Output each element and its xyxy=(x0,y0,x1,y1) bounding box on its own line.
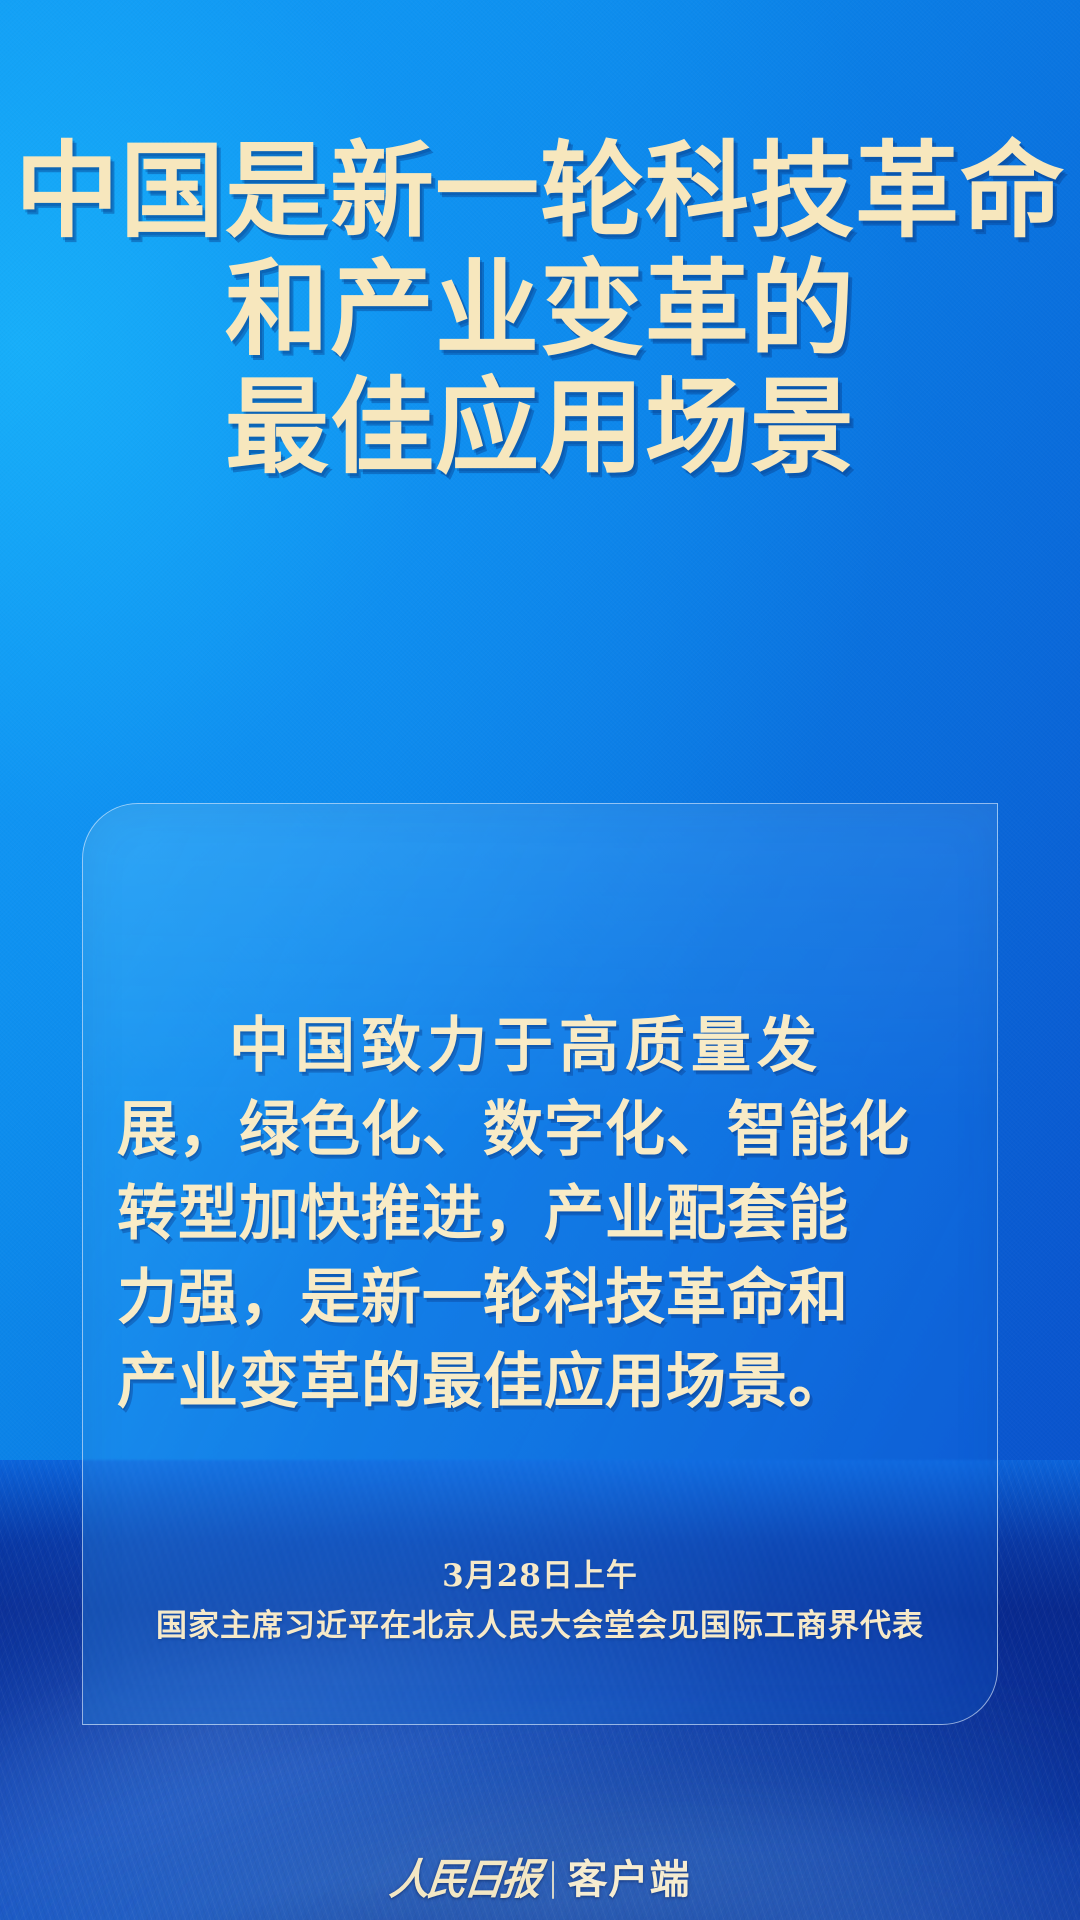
poster-root: 中国是新一轮科技革命 和产业变革的 最佳应用场景 中国致力于高质量发 展，绿色化… xyxy=(0,0,1080,1920)
headline-line-3: 最佳应用场景 xyxy=(0,368,1080,486)
people-daily-logo: 人民日报 xyxy=(387,1859,539,1901)
quote-line-2: 展，绿色化、数字化、智能化 xyxy=(117,1088,973,1172)
headline-line-2: 和产业变革的 xyxy=(0,250,1080,368)
footer-logo: 人民日报 客户端 xyxy=(0,1845,1080,1915)
headline: 中国是新一轮科技革命 和产业变革的 最佳应用场景 xyxy=(0,132,1080,486)
app-name-label: 客户端 xyxy=(568,1860,691,1900)
quote-line-5: 产业变革的最佳应用场景。 xyxy=(117,1340,973,1424)
quote-line-3: 转型加快推进，产业配套能 xyxy=(117,1172,973,1256)
quote-line-1: 中国致力于高质量发 xyxy=(117,1004,973,1088)
quote-line-4: 力强，是新一轮科技革命和 xyxy=(117,1256,973,1340)
quote-card: 中国致力于高质量发 展，绿色化、数字化、智能化 转型加快推进，产业配套能 力强，… xyxy=(82,803,998,1725)
quote-body: 中国致力于高质量发 展，绿色化、数字化、智能化 转型加快推进，产业配套能 力强，… xyxy=(117,1004,973,1424)
caption-description: 国家主席习近平在北京人民大会堂会见国际工商界代表 xyxy=(83,1600,997,1652)
caption-date: 3月28日上午 xyxy=(83,1552,997,1600)
logo-divider xyxy=(552,1861,554,1899)
quote-caption: 3月28日上午 国家主席习近平在北京人民大会堂会见国际工商界代表 xyxy=(83,1552,997,1652)
headline-line-1: 中国是新一轮科技革命 xyxy=(0,132,1080,250)
